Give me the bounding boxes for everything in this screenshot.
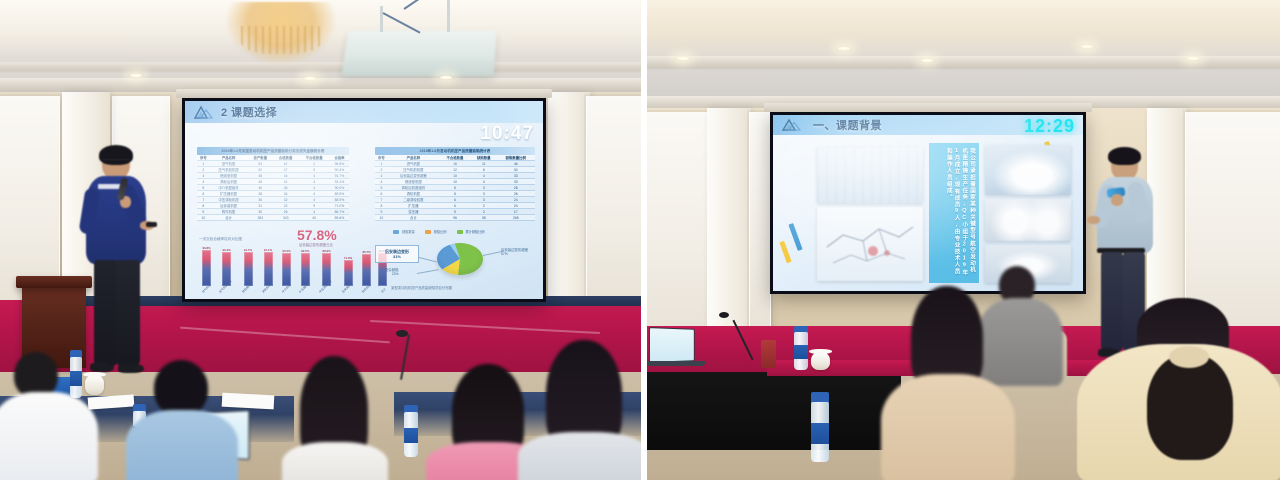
pie-label-2-value: 23% — [392, 272, 399, 276]
pie-label-2: 夹杂缺陷 23% — [385, 267, 399, 276]
presenter-hand-right — [1111, 194, 1123, 206]
table-right: 序号 产品名称 不合格数量 缺陷数量 缺陷数量比例 1进气机匣1611462压气… — [375, 155, 535, 221]
shirt-graphic-highlight — [1169, 346, 1209, 368]
presentation-clicker — [146, 222, 157, 227]
projection-screen-left: 2 课题选择 10:47 2019年1-6月某型发动机机匣产品质量缺陷分类及损失… — [182, 98, 546, 302]
table-microphone-head — [396, 330, 408, 337]
ceiling-downlight-r5 — [1185, 56, 1201, 61]
table-right-wrapper: 2019年1-6月发动机机匣产品质量缺陷统计表 序号 产品名称 不合格数量 缺陷… — [375, 147, 535, 221]
bar-chart: 96.8%进气机匣90.4%压气机前机匣91.7%燃烧室机匣91.1%涡轮后机匣… — [201, 247, 351, 295]
process-flow-diagram — [817, 207, 923, 281]
legend-item-3: 累计缺陷比例 — [457, 229, 485, 234]
projector-mount-arm — [380, 6, 383, 32]
table-cell-2: 383 — [248, 215, 273, 221]
presenter-glasses-icon — [103, 159, 129, 164]
screen-roller-housing — [176, 89, 552, 98]
wall-panel-r-narrow — [749, 112, 771, 334]
screen-roller-housing-right — [764, 103, 1092, 112]
bar-chart-subtitle: 一次交检合格率柱状对比图 — [199, 237, 242, 242]
water-bottle-back — [794, 326, 808, 370]
presenter-laptop-screen — [649, 327, 695, 363]
screenshot-root: 2 课题选择 10:47 2019年1-6月某型发动机机匣产品质量缺陷分类及损失… — [0, 0, 1280, 480]
ceiling-downlight-r2 — [836, 46, 852, 51]
ceiling-downlight-r1 — [675, 56, 691, 61]
mountain-triangle-logo-icon — [193, 105, 215, 120]
audience-member-cream-shirt-long-hair — [1077, 298, 1280, 480]
bottle-label-r2 — [811, 423, 829, 444]
ceiling-downlight-3 — [438, 75, 454, 80]
black-draped-table — [647, 372, 901, 450]
microphone-base — [761, 340, 776, 368]
bottle-label-r1 — [794, 345, 808, 358]
legend-label-3: 累计缺陷比例 — [466, 229, 485, 234]
audience-shirt-2 — [126, 410, 238, 480]
flow-diagram-lines — [817, 207, 923, 281]
wall-panel-far-right — [586, 96, 641, 304]
right-room: 一、课题背景 12:29 — [647, 0, 1280, 480]
highlight-percentage: 57.8% — [297, 227, 337, 243]
highlight-note: 后安装边变形超差占比 — [299, 242, 333, 247]
teacup-right — [811, 352, 830, 370]
slide-title-right: 一、课题背景 — [813, 117, 882, 133]
audience-member-blue-shirt — [124, 360, 240, 480]
countdown-timer-right: 12:29 — [1024, 116, 1075, 137]
table-right-legend: 缺陷数量 缺陷比例 累计缺陷比例 — [393, 229, 485, 234]
accent-bar-blue-1 — [788, 223, 802, 251]
table-cell-1: 合计 — [388, 215, 439, 221]
bar-group: 91.1%涡轮后机匣 — [261, 248, 275, 295]
bar — [202, 250, 211, 286]
projector-mount-arm-2 — [447, 0, 450, 32]
table-cell-4: 265 — [497, 215, 535, 221]
pie-chart-caption: 某型发动机机匣产品质量缺陷项目分布图 — [391, 285, 452, 290]
audience-shirt-5 — [518, 432, 641, 480]
bar — [282, 253, 291, 286]
table-cell-4: 40 — [298, 215, 330, 221]
audience-head-2 — [154, 360, 208, 416]
bar-group: 88.9%中压涡轮机匣 — [318, 249, 335, 295]
ceiling-downlight — [128, 73, 144, 78]
bar-group: 90.0%中介机匣 — [281, 249, 292, 295]
slide-header-left: 2 课题选择 — [185, 101, 543, 123]
legend-label-1: 缺陷数量 — [402, 229, 415, 234]
bar-group: 96.8%进气机匣 — [201, 246, 212, 295]
presenter-left-leg — [94, 260, 118, 366]
pie-leader-line-2 — [417, 269, 439, 274]
callout-line-2: 31% — [378, 254, 416, 259]
defect-pie-chart — [437, 243, 483, 275]
pie-label-1: 后安装边变形超差 57% — [501, 247, 528, 256]
left-presenter — [74, 148, 166, 374]
table-row: 10合计9638265 — [375, 215, 535, 221]
table-cell-3: 38 — [471, 215, 497, 221]
legend-item-1: 缺陷数量 — [393, 229, 415, 234]
right-photo-panel: 一、课题背景 12:29 — [647, 0, 1280, 480]
table-cell-2: 96 — [439, 215, 471, 221]
slide-surface-left: 2 课题选择 10:47 2019年1-6月某型发动机机匣产品质量缺陷分类及损失… — [185, 101, 543, 299]
defect-callout-box: 后安装边变形 31% — [375, 245, 419, 263]
presenter-hand-left-right — [1087, 216, 1100, 224]
left-photo-panel: 2 课题选择 10:47 2019年1-6月某型发动机机匣产品质量缺陷分类及损失… — [0, 0, 641, 480]
table-left-wrapper: 2019年1-6月某型发动机机匣产品质量缺陷分类及损失金额统计表 序号 产品名称… — [197, 147, 349, 221]
pie-label-1-value: 57% — [501, 252, 508, 256]
table-cell-0: 10 — [197, 215, 210, 221]
ceiling-downlight-r3 — [919, 58, 935, 63]
legend-item-2: 缺陷比例 — [425, 229, 447, 234]
wall-pillar-r-left — [707, 108, 751, 346]
slide-surface-right: 一、课题背景 12:29 — [773, 115, 1083, 291]
water-bottle-right-a — [404, 405, 418, 457]
chandelier — [226, 2, 336, 64]
bar-group: 89.5%扩压器机匣 — [298, 249, 312, 295]
audience-shirt-r2 — [881, 374, 1015, 480]
legend-swatch-icon-2 — [425, 230, 431, 234]
ceiling-downlight-r4 — [1079, 44, 1095, 49]
bar-category-label: 合计 — [380, 287, 387, 294]
mountain-triangle-logo-icon-right — [781, 118, 803, 132]
legend-swatch-icon — [393, 230, 399, 234]
legend-swatch-icon-3 — [457, 230, 463, 234]
table-left-caption: 2019年1-6月某型发动机机匣产品质量缺陷分类及损失金额统计表 — [197, 147, 349, 155]
bar-group: 71.0%后安装机匣 — [341, 256, 355, 295]
table-cell-1: 合计 — [210, 215, 248, 221]
table-left: 序号 产品名称 投产数量 合格数量 不合格数量 合格率 1进气机匣6361296… — [197, 155, 349, 221]
presenter-hair-right — [1108, 147, 1141, 165]
shirt-graphic-print — [1147, 354, 1233, 460]
pie-leader-line-1 — [483, 251, 503, 256]
wall-pillar-right — [548, 92, 590, 314]
bar-group: 86.7%附件机匣 — [361, 250, 372, 295]
bottle-label-3 — [404, 428, 418, 444]
water-bottle-front — [811, 392, 829, 462]
audience-member-beige-shirt — [885, 286, 1011, 480]
audience-member-grey-shirt — [520, 340, 641, 480]
factory-workshop-photo — [817, 147, 923, 203]
presenter-right-leg — [116, 260, 140, 366]
ceiling-right — [647, 0, 1280, 108]
callout-leader-line — [419, 257, 437, 262]
table-cell-5: 89.6% — [330, 215, 349, 221]
wall-panel-r-left — [647, 112, 709, 338]
ceiling-downlight-2 — [302, 76, 318, 81]
teacup-lid-right — [809, 349, 831, 354]
presenter-laptop-base — [647, 361, 705, 366]
table-row: 10合计3833434089.6% — [197, 215, 349, 221]
conference-microphone-head — [719, 312, 729, 318]
aircraft-photo — [985, 145, 1071, 195]
audience-member-white-shirt — [0, 352, 100, 480]
audience-member-dark-hair — [282, 356, 390, 480]
engine-casing-parts-photo — [985, 199, 1071, 241]
table-cell-3: 343 — [273, 215, 298, 221]
audience-shirt-3 — [282, 442, 388, 480]
bar-group: 91.7%燃烧室机匣 — [241, 248, 255, 295]
background-text-block: 我公司承担着国家某种关键型号航空发动机机匣精铸生产任务,QC小组于2019年1月… — [929, 143, 979, 283]
ceiling-projector — [341, 31, 496, 77]
bar-group: 90.4%压气机前机匣 — [218, 248, 235, 295]
slide-title-left: 2 课题选择 — [221, 104, 277, 120]
bar — [362, 254, 371, 286]
table-cell-0: 10 — [375, 215, 388, 221]
countdown-timer-left: 10:47 — [480, 123, 534, 145]
accent-bar-yellow-3 — [779, 241, 791, 263]
audience-shirt — [0, 392, 98, 480]
table-right-caption: 2019年1-6月发动机机匣产品质量缺陷统计表 — [375, 147, 535, 155]
left-room: 2 课题选择 10:47 2019年1-6月某型发动机机匣产品质量缺陷分类及损失… — [0, 0, 641, 480]
legend-label-2: 缺陷比例 — [434, 229, 447, 234]
